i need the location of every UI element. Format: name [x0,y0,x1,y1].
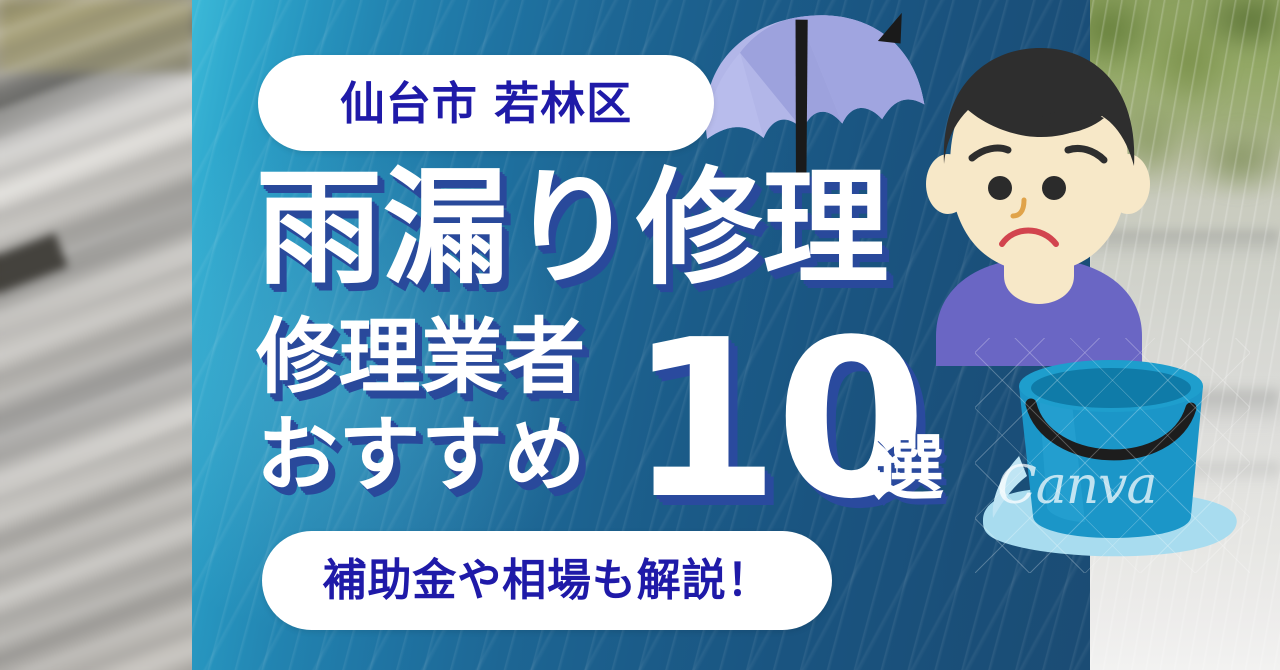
count-unit: 選 [872,432,944,504]
note-badge: 補助金や相場も解説！ [262,531,832,630]
page-title: 雨漏り修理 [256,166,889,292]
leaking-bucket-illustration [975,338,1250,573]
region-badge-label: 仙台市 若林区 [340,81,632,126]
worried-person-illustration [906,36,1206,366]
note-badge-label: 補助金や相場も解説！ [323,559,772,603]
person-eye-right [1042,176,1066,200]
photo-blur-overlay [0,0,194,670]
subtitle-line-1: 修理業者 [256,317,586,399]
bucket-rim-inner [1031,368,1191,408]
subtitle-line-2: おすすめ [256,415,586,497]
region-badge: 仙台市 若林区 [258,55,714,151]
person-eye-left [988,176,1012,200]
thumbnail-canvas: Canva 仙台市 若林区 雨漏り修理 修理業者 おすすめ 10 選 補助金や相… [0,0,1280,670]
left-roof-photo [0,0,194,670]
